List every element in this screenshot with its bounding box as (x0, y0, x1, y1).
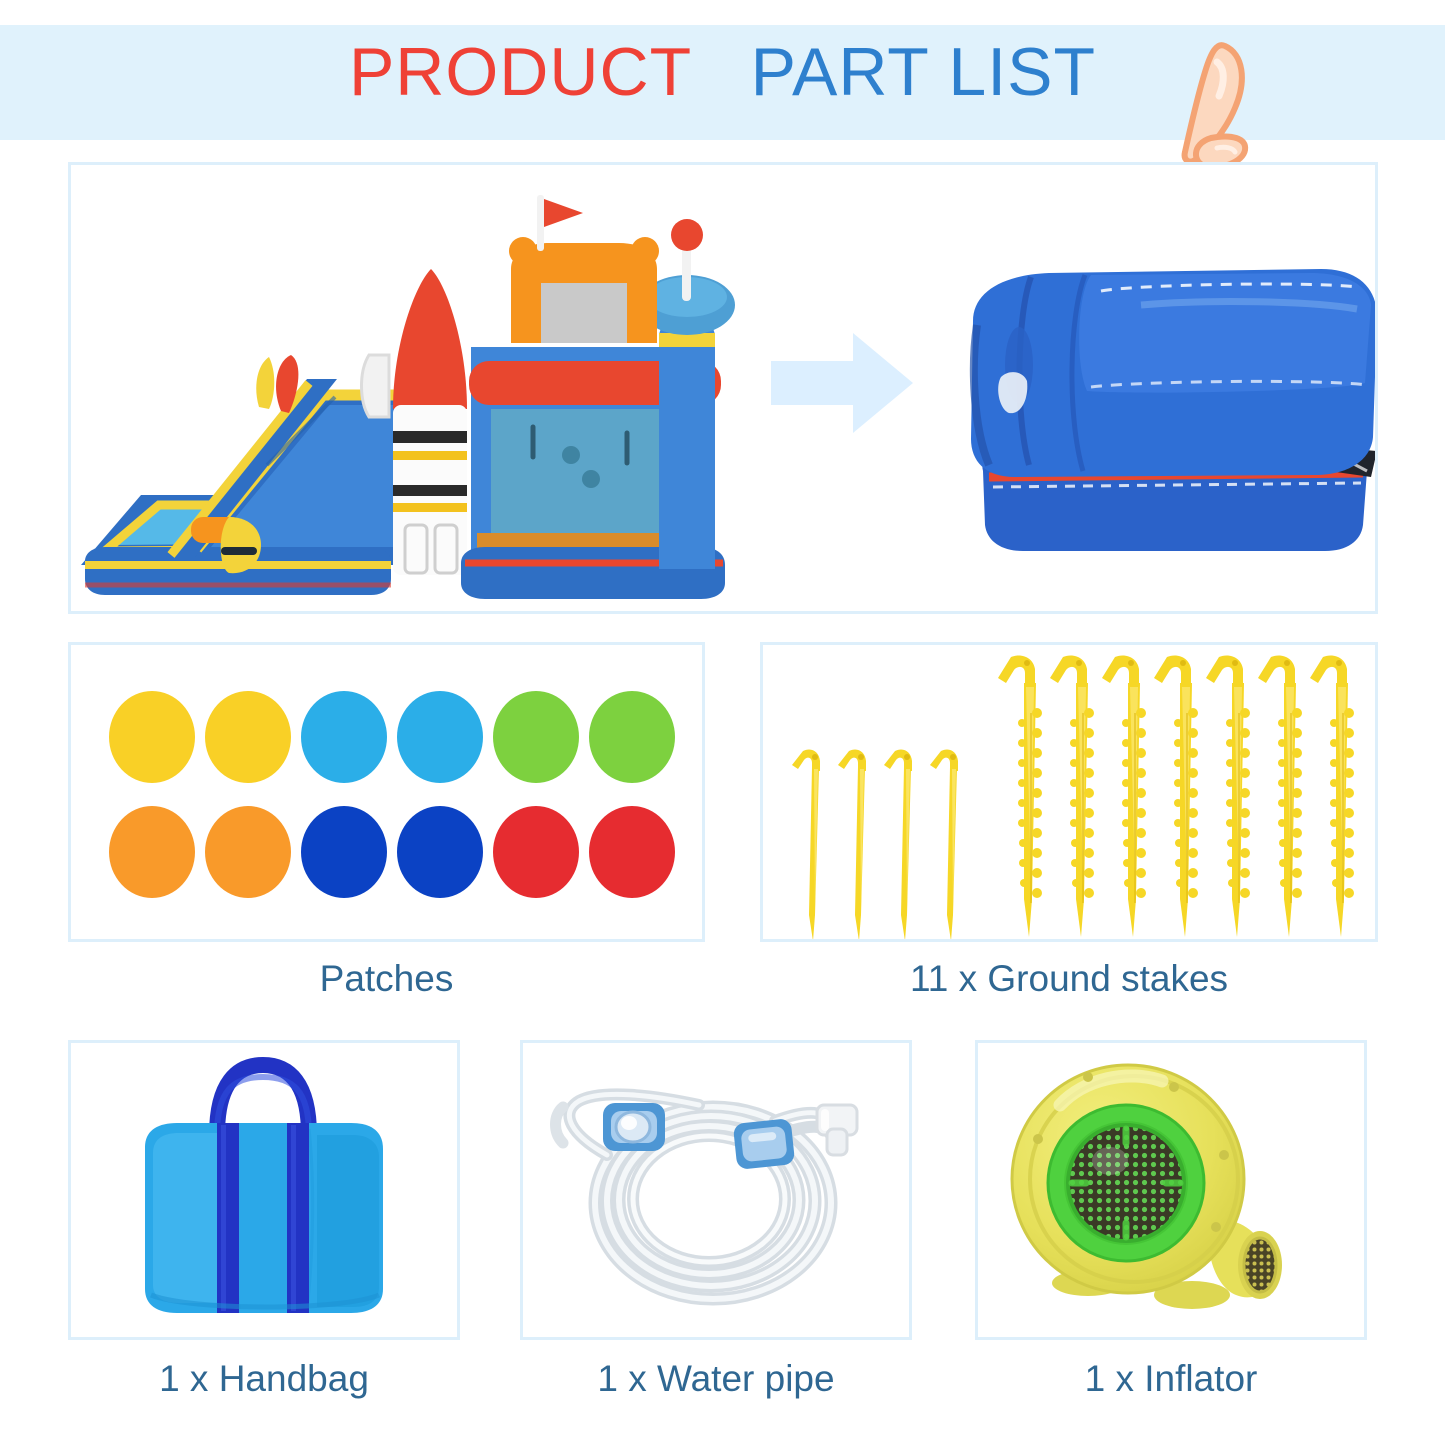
patch-green-1 (493, 691, 579, 783)
inflator-blower-image (1012, 1065, 1282, 1309)
folded-bounce-house-image (971, 269, 1375, 551)
ground-stake-small-1 (792, 749, 820, 939)
ground-stake-large-3 (1102, 656, 1146, 938)
ground-stake-small-2 (838, 749, 866, 939)
ground-stake-small-4 (930, 749, 958, 939)
caption-water-pipe: 1 x Water pipe (520, 1358, 912, 1400)
inflatable-bounce-house-image (81, 195, 735, 599)
arrow-right-icon (771, 333, 913, 433)
hose-clip (733, 1118, 795, 1170)
ground-stake-large-7 (1310, 656, 1354, 938)
patch-yellow-1 (109, 691, 195, 783)
caption-handbag: 1 x Handbag (68, 1358, 460, 1400)
caption-inflator: 1 x Inflator (975, 1358, 1367, 1400)
caption-ground-stakes: 11 x Ground stakes (760, 958, 1378, 1000)
patch-orange-1 (109, 806, 195, 898)
panel-patches (68, 642, 705, 942)
stake-small-group (792, 749, 958, 939)
ground-stake-large-4 (1154, 656, 1198, 938)
hose-connector (817, 1105, 857, 1155)
page-title-part-list: PART LIST (751, 34, 1096, 110)
panel-ground-stakes (760, 642, 1378, 942)
stake-large-group (998, 656, 1354, 938)
ground-stake-large-6 (1258, 656, 1302, 938)
patch-light-blue-2 (397, 691, 483, 783)
caption-patches: Patches (68, 958, 705, 1000)
panel-handbag (68, 1040, 460, 1340)
patch-dark-blue-2 (397, 806, 483, 898)
exclamation-mark-icon (1155, 38, 1265, 173)
ground-stake-large-5 (1206, 656, 1250, 938)
ground-stake-small-3 (884, 749, 912, 939)
patch-red-1 (493, 806, 579, 898)
patch-orange-2 (205, 806, 291, 898)
hose-clip-valve (603, 1103, 665, 1151)
patch-dark-blue-1 (301, 806, 387, 898)
page-title-product: PRODUCT (349, 34, 691, 110)
ground-stake-large-1 (998, 656, 1042, 938)
patch-light-blue-1 (301, 691, 387, 783)
rocket-tower (393, 269, 467, 575)
patch-green-2 (589, 691, 675, 783)
panel-product-overview (68, 162, 1378, 614)
handbag-image (145, 1065, 383, 1313)
ground-stake-large-2 (1050, 656, 1094, 938)
patch-red-2 (589, 806, 675, 898)
patch-yellow-2 (205, 691, 291, 783)
panel-inflator (975, 1040, 1367, 1340)
panel-water-pipe (520, 1040, 912, 1340)
patch-grid (109, 687, 669, 902)
